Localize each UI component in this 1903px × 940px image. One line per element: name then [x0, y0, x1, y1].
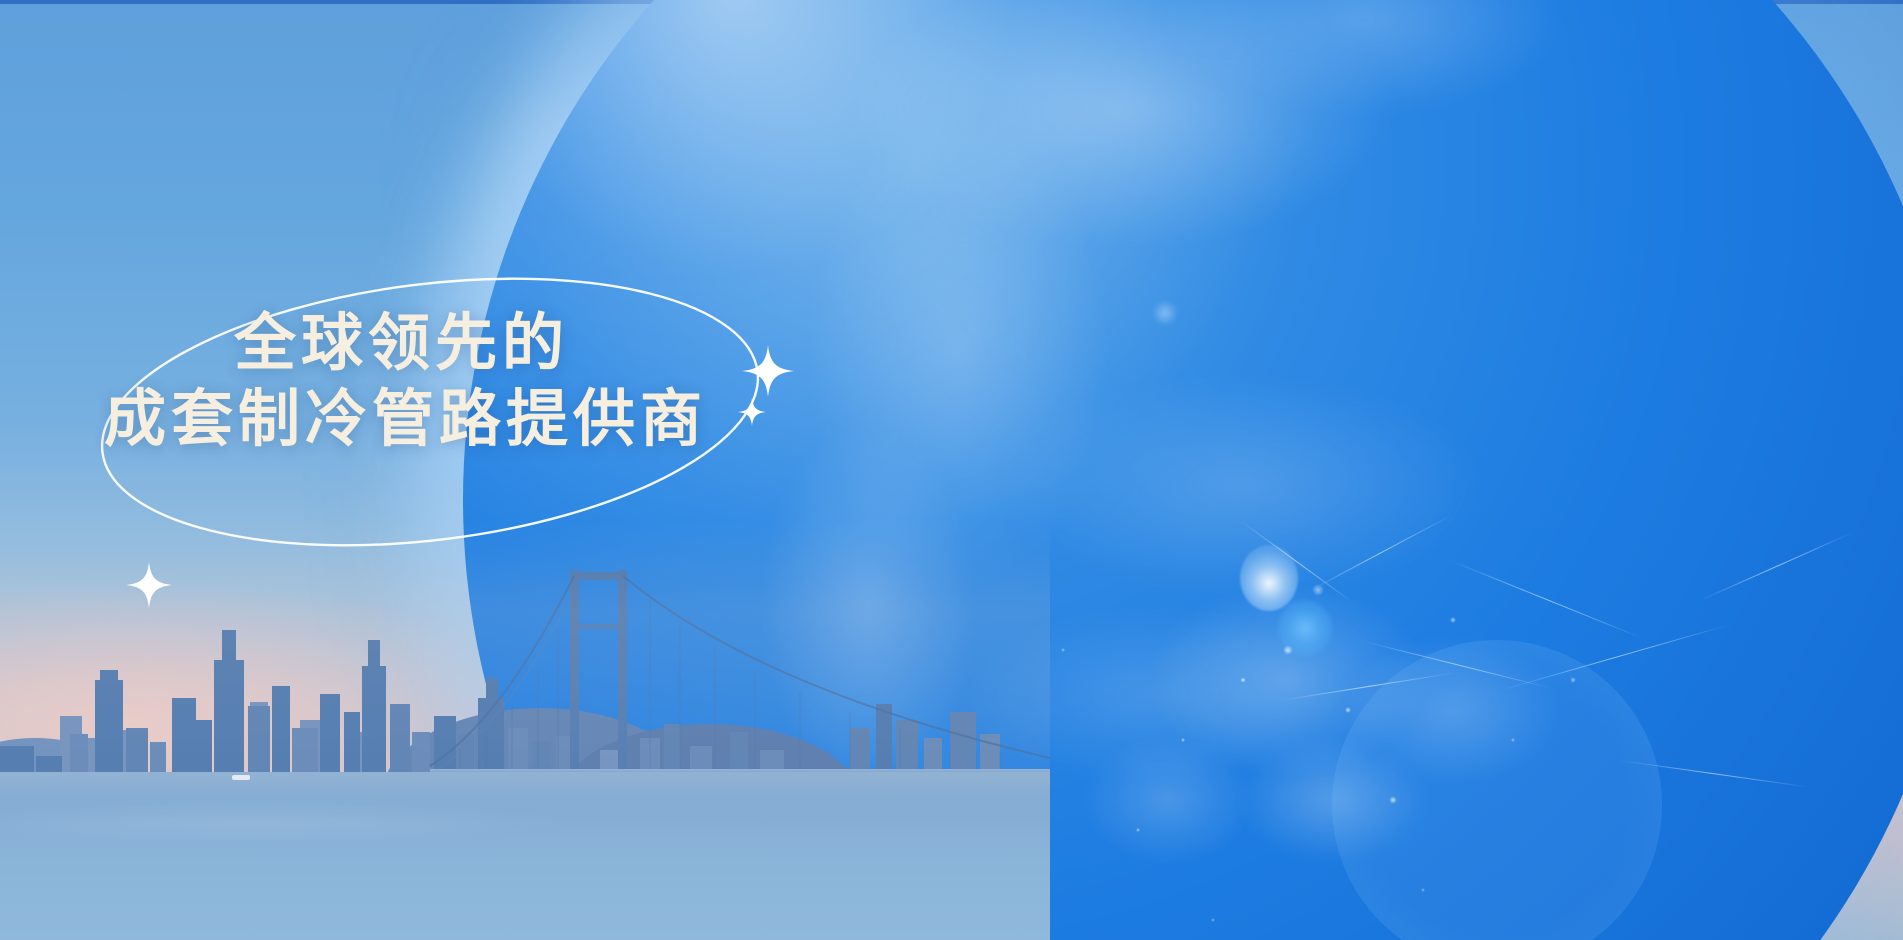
suspension-bridge [430, 570, 1050, 800]
top-accent-bar [0, 0, 1903, 4]
harbor-water [0, 772, 1050, 940]
hero-headline: 全球领先的 成套制冷管路提供商 [104, 306, 924, 458]
city-skyline-silhouette [0, 520, 1050, 940]
headline-line-2: 成套制冷管路提供商 [104, 382, 924, 458]
headline-line-1: 全球领先的 [104, 306, 924, 382]
bridge-cables [430, 570, 1050, 800]
hero-banner: 全球领先的 成套制冷管路提供商 [0, 0, 1903, 940]
boat [232, 775, 250, 780]
